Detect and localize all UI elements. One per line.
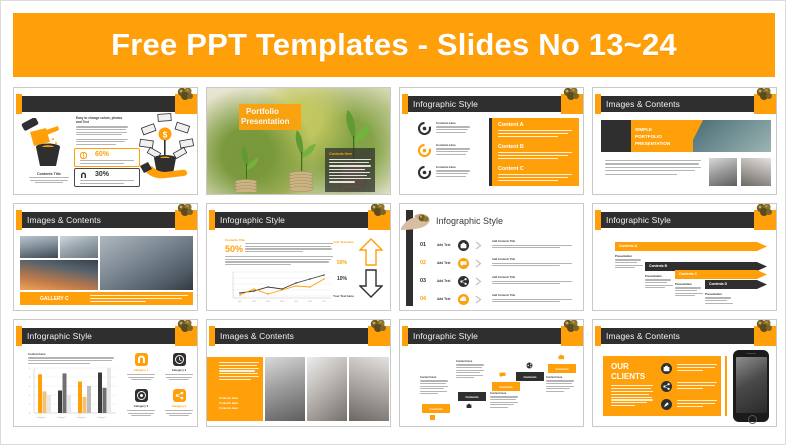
slide1-body-heading: Easy to change colors, photos and Text: [76, 116, 128, 124]
category-block-3: Category 3: [126, 389, 156, 416]
stair-heading-5: Content Here: [546, 376, 574, 379]
gold-nugget-icon: [175, 87, 195, 102]
step-heading-01: Add Contents Title: [492, 240, 572, 243]
svg-text:2012: 2012: [252, 301, 256, 303]
briefcase-icon: [661, 363, 672, 374]
coin-stack-plant-mid: [279, 126, 323, 192]
slide-title: Infographic Style: [606, 215, 671, 225]
slide-titlebar: Images & Contents: [599, 328, 770, 344]
content-panel: Content A Content B Content C: [492, 118, 579, 186]
portrait-photo-2: [307, 357, 347, 421]
slide-titlebar: Infographic Style: [213, 212, 384, 228]
arrow-desc-4: Presentation: [705, 292, 735, 304]
step-text-01: Add Contents Title: [492, 240, 572, 248]
share-icon: [661, 381, 672, 392]
stair-label-2: Contents: [466, 395, 479, 399]
svg-text:2013: 2013: [266, 301, 270, 303]
portrait-photo-1: [265, 357, 305, 421]
panel-item-a: Content A: [498, 122, 524, 128]
slide-thumbnail-4[interactable]: Images & Contents SIMPLE PORTFOLIO PRESE…: [592, 87, 777, 195]
line-chart: 201120122013 2014201520162017: [223, 270, 333, 304]
gold-nugget-icon: [368, 319, 388, 334]
stat-value-60: 60%: [95, 151, 109, 158]
step-label-03: Add Text: [437, 279, 450, 283]
slide-thumbnail-9[interactable]: Infographic Style Content Here 012345: [13, 319, 198, 427]
arrow-sub-2: Presentation: [645, 274, 675, 278]
brush-icon: [661, 399, 672, 410]
gold-nugget-icon: [561, 87, 581, 102]
slide-titlebar: Infographic Style: [599, 212, 770, 228]
clients-title-line2: CLIENTS: [611, 372, 645, 382]
category-block-4: Category 4: [164, 389, 194, 416]
coin-icon: [80, 152, 87, 159]
phone-speaker: [746, 353, 756, 354]
svg-text:2: 2: [29, 395, 31, 397]
svg-text:2016: 2016: [308, 301, 312, 303]
slide-titlebar: [20, 96, 191, 112]
gold-nugget-icon: [368, 203, 388, 218]
arrow-down-label: Your Text Here: [333, 294, 354, 298]
ring-text-1: Contents Here: [436, 121, 470, 133]
svg-text:4: 4: [29, 377, 31, 379]
hero-orange-wedge: [687, 120, 703, 152]
slide-title: Infographic Style: [27, 331, 92, 341]
stair-heading-1: Content Here: [420, 376, 448, 379]
hero-line-2: PORTFOLIO: [635, 133, 670, 140]
briefcase-marker-icon: [558, 354, 565, 360]
svg-text:Category 2: Category 2: [57, 416, 66, 419]
slide1-caption: Contents Title: [37, 172, 61, 176]
panel-item-b: Content B: [498, 144, 524, 150]
stair-heading-2: Content Here: [456, 360, 484, 363]
gold-nugget-icon: [561, 319, 581, 334]
ring-label-2: Contents Here: [436, 143, 470, 147]
gold-nugget-icon: [175, 319, 195, 334]
left-orange-panel: Contents Here Contents Here Contents Her…: [207, 357, 263, 421]
slide-title: Images & Contents: [606, 99, 680, 109]
slide-thumbnail-page: Free PPT Templates - Slides No 13~24: [0, 0, 786, 445]
arrow-label-4: Contents D: [709, 282, 727, 286]
svg-text:Category 3: Category 3: [77, 416, 86, 419]
slide1-body-text: Easy to change colors, photos and Text: [76, 116, 128, 145]
slide-title: Infographic Style: [220, 215, 285, 225]
phone-screen-photo: [736, 357, 767, 413]
step-text-02: Add Contents Title: [492, 258, 572, 266]
category-label-4: Category 4: [164, 404, 194, 408]
step-heading-02: Add Contents Title: [492, 258, 572, 261]
chart-heading: Content Here: [28, 352, 114, 356]
slide-thumbnail-2[interactable]: Portfolio Presentation Contents Here: [206, 87, 391, 195]
stair-box-3: Contents: [492, 382, 520, 391]
category-label-2: Category 2: [164, 368, 194, 372]
ring-text-3: Contents Here: [436, 165, 470, 177]
arrow-desc-1: Presentation: [615, 254, 645, 268]
step-num-02: 02: [420, 260, 426, 266]
arrow-sub-4: Presentation: [705, 292, 735, 296]
cover-title-line2: Presentation: [241, 117, 289, 126]
svg-text:Category 4: Category 4: [97, 416, 106, 419]
category-block-2: Category 2: [164, 353, 194, 380]
gear-ring-icon: [418, 144, 431, 157]
cover-panel-heading: Contents Here: [329, 152, 352, 156]
step-text-04: Add Contents Title: [492, 294, 572, 302]
hand-with-nugget-icon: [400, 210, 432, 236]
step-heading-04: Add Contents Title: [492, 294, 572, 297]
slide-thumbnail-12[interactable]: Images & Contents OUR CLIENTS: [592, 319, 777, 427]
step-num-04: 04: [420, 296, 426, 302]
banner-title: Free PPT Templates - Slides No 13~24: [111, 27, 677, 63]
ring-row-3: [418, 166, 431, 184]
step-label-01: Add Text: [437, 243, 450, 247]
ring-text-2: Contents Here: [436, 143, 470, 155]
stair-text-1: Content Here: [420, 376, 448, 394]
gallery-photo-1: [20, 236, 58, 258]
slide-thumbnail-8[interactable]: Infographic Style Contents A Presentatio…: [592, 203, 777, 311]
gold-nugget-icon: [175, 203, 195, 218]
bullet-3: Contents Here: [219, 406, 238, 411]
panel-orange-edge: [725, 356, 727, 416]
right-orange-edge: [390, 357, 391, 421]
gear-ring-icon: [418, 166, 431, 179]
stair-label-1: Contents: [430, 407, 443, 411]
share-icon: [458, 276, 469, 287]
header-banner: Free PPT Templates - Slides No 13~24: [13, 13, 775, 77]
arrow-down-icon: [359, 268, 383, 298]
arrow-sub-1: Presentation: [615, 254, 645, 258]
portrait-photo-3: [349, 357, 389, 421]
gold-nugget-icon: [754, 319, 774, 334]
category-label-1: Category 1: [126, 368, 156, 372]
stair-text-5: Content Here: [546, 376, 574, 392]
stair-box-5: Contents: [548, 364, 576, 373]
arrow-desc-2: Presentation: [645, 274, 675, 288]
coin-stack-plant-small: [225, 140, 267, 192]
cover-title-box: Portfolio Presentation: [239, 104, 301, 130]
step-text-03: Add Contents Title: [492, 276, 572, 284]
stat-card-30: 30%: [74, 168, 140, 187]
phone-home-button: [748, 415, 757, 424]
ring-label-3: Contents Here: [436, 165, 470, 169]
arrow-label-3: Contents C: [679, 272, 697, 276]
arrow-up-label: Your Text Here: [333, 240, 354, 244]
slide-title: Infographic Style: [413, 99, 478, 109]
step-label-02: Add Text: [437, 261, 450, 265]
hero-line-1: SIMPLE: [635, 126, 670, 133]
step-label-04: Add Text: [437, 297, 450, 301]
arrow-label-2: Contents B: [649, 264, 667, 268]
slide-titlebar: Images & Contents: [213, 328, 384, 344]
share-icon: [173, 389, 186, 402]
slide-thumbnail-11[interactable]: Infographic Style Contents Content Here …: [399, 319, 584, 427]
thumb-photo-2: [741, 158, 771, 186]
slide-thumbnail-5[interactable]: Images & Contents GALLERY C: [13, 203, 198, 311]
briefcase-icon: [458, 240, 469, 251]
slide-title: Images & Contents: [606, 331, 680, 341]
gold-nugget-icon: [754, 203, 774, 218]
chevron-right-icon: [474, 241, 483, 250]
svg-text:5: 5: [29, 368, 31, 370]
category-label-3: Category 3: [126, 404, 156, 408]
svg-text:1: 1: [29, 404, 31, 406]
svg-text:Category 1: Category 1: [37, 416, 46, 419]
arrow-sub-3: Presentation: [675, 282, 705, 286]
stair-box-1: Contents: [422, 404, 450, 413]
hero-dark-block: [601, 120, 631, 152]
plant-pot-icon: [34, 142, 62, 170]
panel-item-c: Content C: [498, 166, 524, 172]
arrow-label-1: Contents A: [619, 244, 637, 248]
slide1-caption-block: Contents Title: [28, 172, 70, 183]
clock-icon: [173, 353, 186, 366]
stair-box-4: Contents: [516, 372, 544, 381]
slide-title: Infographic Style: [413, 331, 478, 341]
svg-text:2011: 2011: [238, 301, 242, 303]
arrow-desc-3: Presentation: [675, 282, 705, 296]
stat-card-60: 60%: [74, 148, 140, 167]
chart-copy: Content Here: [28, 352, 114, 364]
step-num-01: 01: [420, 242, 426, 248]
chart-heading: Contents Title: [225, 238, 245, 242]
chevron-right-icon: [474, 277, 483, 286]
cover-text-panel: Contents Here: [325, 148, 375, 192]
slide-titlebar: Images & Contents: [20, 212, 191, 228]
gallery-photo-2: [60, 236, 98, 258]
svg-text:2014: 2014: [280, 301, 284, 303]
hero-banner-text: SIMPLE PORTFOLIO PRESENTATION: [635, 126, 670, 147]
bar-chart: 012345 Category 1Category 2: [26, 364, 118, 422]
slide-title: Infographic Style: [436, 216, 503, 226]
chat-marker-icon: [499, 372, 506, 378]
arrow-down-value: 10%: [337, 276, 347, 282]
arrow-up-value: 50%: [337, 260, 347, 266]
stair-label-5: Contents: [556, 367, 569, 371]
gallery-label: GALLERY C: [40, 296, 69, 302]
ring-row-2: [418, 144, 431, 162]
clients-title-line1: OUR: [611, 362, 645, 372]
stair-heading-3: Content Here: [490, 392, 518, 395]
gallery-photo-4: [100, 236, 193, 290]
big-percent: 50%: [225, 244, 243, 254]
stair-marker-1: [430, 415, 435, 420]
slide-thumbnail-6[interactable]: Infographic Style Contents Title 50%: [206, 203, 391, 311]
stair-box-2: Contents: [458, 392, 486, 401]
stair-text-3: Content Here: [490, 392, 518, 408]
hero-line-3: PRESENTATION: [635, 140, 670, 147]
gallery-caption-bar: GALLERY C: [20, 292, 193, 305]
chevron-right-icon: [474, 295, 483, 304]
stair-label-4: Contents: [524, 375, 537, 379]
slide-thumbnail-1[interactable]: Contents Title Easy to change colors, ph…: [13, 87, 198, 195]
slide-thumbnail-7[interactable]: Infographic Style 01 Add Text Add Conten…: [399, 203, 584, 311]
ring-row-1: [418, 122, 431, 140]
cloud-icon: [458, 294, 469, 305]
magnet-icon: [80, 172, 87, 179]
cover-title-line1: Portfolio: [246, 107, 279, 116]
arrow-up-icon: [359, 238, 383, 266]
slide-thumbnail-3[interactable]: Infographic Style Contents Here: [399, 87, 584, 195]
clients-panel: OUR CLIENTS: [603, 356, 721, 416]
slide4-body-text: [605, 160, 701, 175]
chevron-right-icon: [474, 259, 483, 268]
target-icon: [135, 389, 148, 402]
category-block-1: Category 1: [126, 353, 156, 380]
step-num-03: 03: [420, 278, 426, 284]
svg-text:0: 0: [29, 413, 31, 415]
gallery-photo-3: [20, 260, 98, 290]
stat-value-30: 30%: [95, 171, 109, 178]
slide-titlebar: Infographic Style: [20, 328, 191, 344]
slide-titlebar: Infographic Style: [406, 328, 577, 344]
slide-title: Images & Contents: [27, 215, 101, 225]
gear-ring-icon: [418, 122, 431, 135]
stair-label-3: Contents: [500, 385, 513, 389]
money-tree-icon: $: [138, 112, 196, 186]
phone-mockup: [733, 350, 769, 422]
slides-grid: Contents Title Easy to change colors, ph…: [13, 87, 775, 435]
arrow-bar-1: [615, 242, 767, 251]
step-heading-03: Add Contents Title: [492, 276, 572, 279]
gold-nugget-icon: [754, 87, 774, 102]
svg-text:3: 3: [29, 386, 31, 388]
chat-icon: [458, 258, 469, 269]
slide-title: Images & Contents: [220, 331, 294, 341]
thumb-photo-1: [709, 158, 737, 186]
briefcase-marker-icon: [466, 403, 472, 409]
stair-text-2: Content Here: [456, 360, 484, 378]
svg-text:2017: 2017: [322, 301, 326, 303]
svg-text:$: $: [163, 131, 168, 140]
share-marker-icon: [526, 362, 533, 369]
svg-text:2015: 2015: [294, 301, 298, 303]
slide-thumbnail-10[interactable]: Images & Contents Contents Here Contents…: [206, 319, 391, 427]
slide-titlebar: Images & Contents: [599, 96, 770, 112]
magnet-icon: [135, 353, 148, 366]
slide-titlebar: Infographic Style: [406, 96, 577, 112]
ring-label-1: Contents Here: [436, 121, 470, 125]
chart-copy-bottom: [225, 256, 333, 265]
chart-copy-top: [245, 243, 333, 252]
